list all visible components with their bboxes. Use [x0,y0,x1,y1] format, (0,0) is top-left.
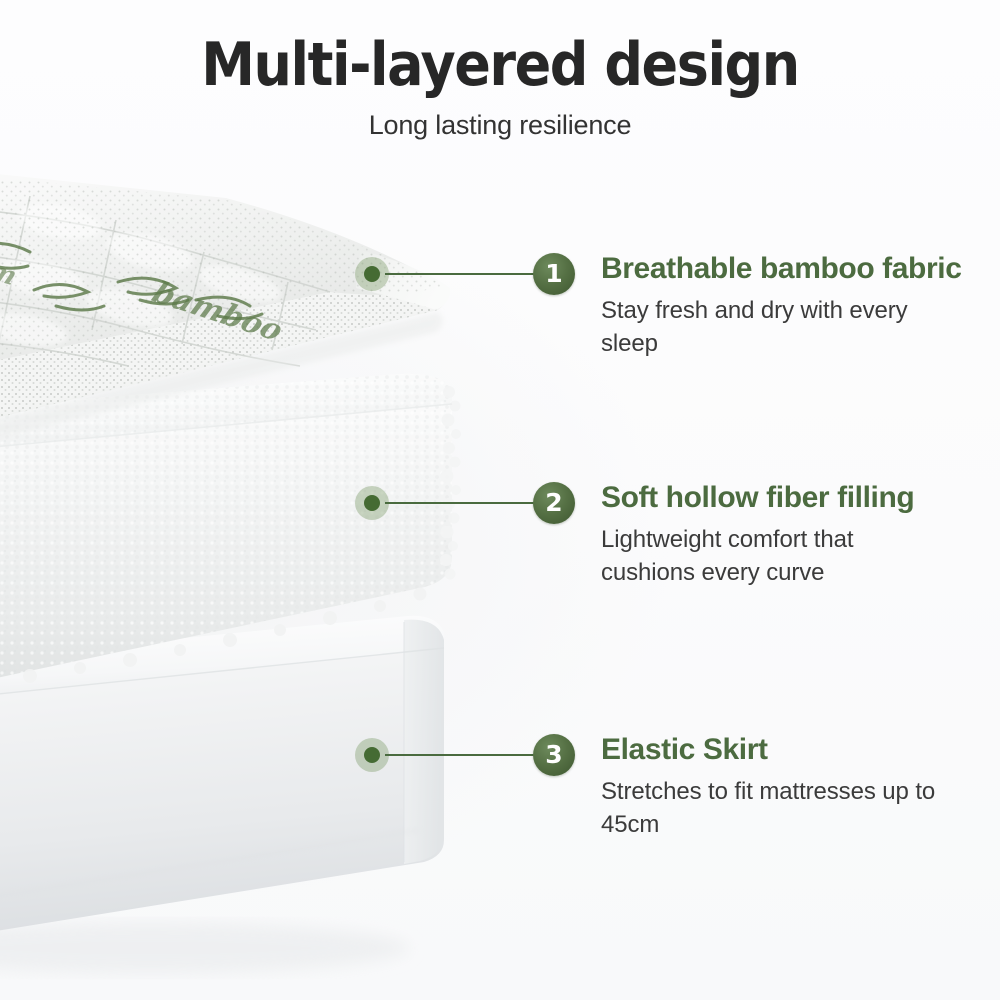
page-title: Multi-layered design [50,0,950,98]
callout-list: 1 Breathable bamboo fabric Stay fresh an… [0,0,1000,1000]
callout-body-3: Stretches to fit mattresses up to 45cm [601,766,951,841]
anchor-dot-1 [355,257,389,291]
page-subtitle: Long lasting resilience [0,98,1000,141]
anchor-dot-3 [355,738,389,772]
callout-text-1: Breathable bamboo fabric Stay fresh and … [601,252,961,360]
callout-heading-2: Soft hollow fiber filling [601,481,951,514]
leader-line-1 [385,273,542,275]
callout-text-2: Soft hollow fiber filling Lightweight co… [601,481,951,589]
callout-body-1: Stay fresh and dry with every sleep [601,285,951,360]
callout-number-badge-2: 2 [533,482,575,524]
callout-heading-3: Elastic Skirt [601,733,951,766]
callout-body-2: Lightweight comfort that cushions every … [601,514,951,589]
callout-number-badge-1: 1 [533,253,575,295]
header: Multi-layered design Long lasting resili… [0,0,1000,141]
callout-text-3: Elastic Skirt Stretches to fit mattresse… [601,733,951,841]
anchor-dot-2 [355,486,389,520]
product-infographic: bamboo bam Multi-layered design Long las… [0,0,1000,1000]
leader-line-2 [385,502,542,504]
leader-line-3 [385,754,542,756]
callout-heading-1: Breathable bamboo fabric [601,252,961,285]
callout-number-badge-3: 3 [533,734,575,776]
